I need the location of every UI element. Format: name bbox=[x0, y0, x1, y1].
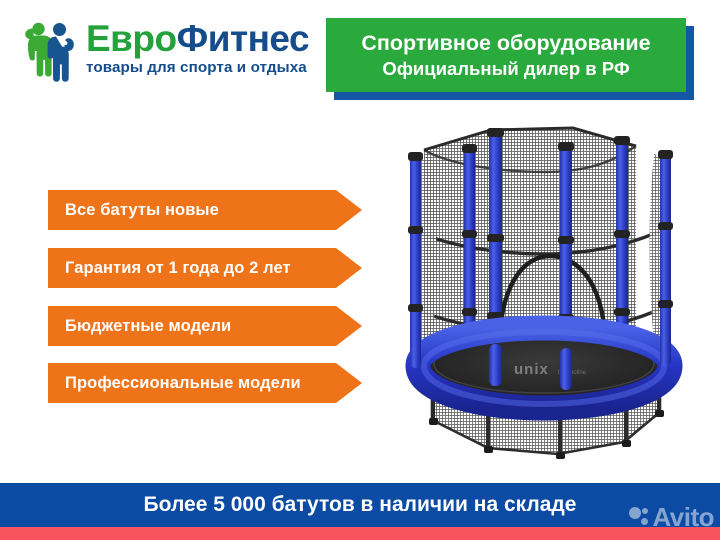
brand-tagline: товары для спорта и отдыха bbox=[86, 59, 326, 77]
feature-item-3: Профессиональные модели bbox=[48, 363, 362, 403]
header-banner-line2: Официальный дилер в РФ bbox=[382, 57, 629, 81]
footer-accent-stripe bbox=[0, 527, 720, 540]
footer-banner-text: Более 5 000 батутов в наличии на складе bbox=[144, 492, 577, 518]
product-image-trampoline: unix trampoline bbox=[388, 112, 704, 476]
header-banner-line1: Спортивное оборудование bbox=[361, 30, 650, 57]
avito-dots-icon bbox=[629, 506, 649, 528]
brand-name-part2: Фитнес bbox=[177, 18, 309, 59]
feature-item-2-label: Бюджетные модели bbox=[48, 316, 231, 336]
avito-watermark-label: Avito bbox=[652, 504, 714, 530]
feature-item-0: Все батуты новые bbox=[48, 190, 362, 230]
brand-name: ЕвроФитнес bbox=[86, 18, 326, 60]
brand-name-part1: Евро bbox=[86, 18, 177, 59]
ad-banner-canvas: ЕвроФитнес товары для спорта и отдыха Сп… bbox=[0, 0, 720, 540]
feature-item-2: Бюджетные модели bbox=[48, 306, 362, 346]
athlete-silhouettes-icon bbox=[18, 20, 84, 82]
svg-text:unix: unix bbox=[514, 361, 549, 378]
header-banner-body: Спортивное оборудование Официальный диле… bbox=[326, 18, 686, 92]
feature-item-0-label: Все батуты новые bbox=[48, 200, 219, 220]
footer-banner: Более 5 000 батутов в наличии на складе bbox=[0, 483, 720, 527]
brand-logo-text: ЕвроФитнес товары для спорта и отдыха bbox=[86, 18, 326, 84]
header-banner: Спортивное оборудование Официальный диле… bbox=[326, 18, 694, 100]
brand-logo[interactable]: ЕвроФитнес товары для спорта и отдыха bbox=[18, 18, 324, 90]
feature-item-1-label: Гарантия от 1 года до 2 лет bbox=[48, 258, 291, 278]
feature-item-3-label: Профессиональные модели bbox=[48, 373, 301, 393]
feature-item-1: Гарантия от 1 года до 2 лет bbox=[48, 248, 362, 288]
avito-watermark: Avito bbox=[629, 504, 714, 530]
feature-list: Все батуты новые Гарантия от 1 года до 2… bbox=[48, 190, 364, 404]
